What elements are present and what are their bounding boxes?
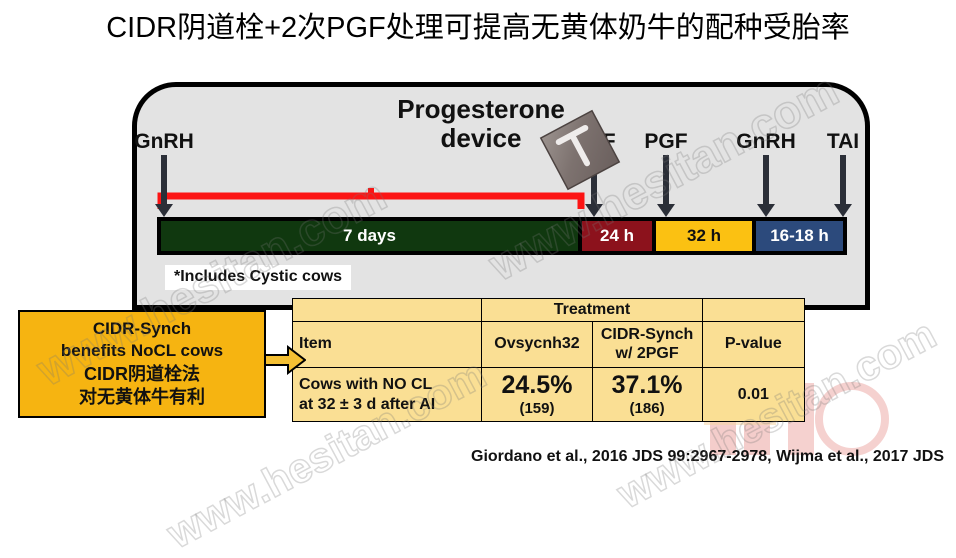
event-label: TAI <box>827 131 859 153</box>
cell-ovsycnh32: 24.5% (159) <box>482 368 592 422</box>
table-header-cidr-synch: CIDR-Synch w/ 2PGF <box>592 322 702 368</box>
cell-p-value: 0.01 <box>702 368 804 422</box>
row-label-line2: at 32 ± 3 d after AI <box>299 396 435 413</box>
table-header-row: Item Ovsycnh32 CIDR-Synch w/ 2PGF P-valu… <box>293 322 805 368</box>
protocol-diagram-panel: Progesterone device GnRH PGF P <box>132 82 870 310</box>
segment-label: 16-18 h <box>770 226 829 246</box>
callout-line: CIDR-Synch <box>93 318 191 340</box>
table-header-blank <box>293 299 482 322</box>
cystic-cows-note: *Includes Cystic cows <box>165 265 351 290</box>
progesterone-period-bracket <box>157 187 585 211</box>
callout-line: CIDR阴道栓法 <box>84 363 200 387</box>
timeline-segment-16-18h: 16-18 h <box>756 221 843 251</box>
table-header-blank <box>702 299 804 322</box>
table-group-header-treatment: Treatment <box>482 299 702 322</box>
header-cidr-line1: CIDR-Synch <box>601 326 693 343</box>
cell-sample-size: (159) <box>488 401 585 418</box>
timeline-segment-24h: 24 h <box>582 221 652 251</box>
protocol-timeline: 7 days 24 h 32 h 16-18 h <box>157 217 847 255</box>
callout-line: 对无黄体牛有利 <box>79 386 205 410</box>
callout-to-table-arrow <box>264 345 306 375</box>
row-label-cell: Cows with NO CL at 32 ± 3 d after AI <box>293 368 482 422</box>
cell-value: 24.5% <box>488 372 585 400</box>
event-label: PGF <box>644 131 687 153</box>
segment-label: 32 h <box>687 226 721 246</box>
callout-box: CIDR-Synch benefits NoCL cows CIDR阴道栓法 对… <box>18 310 266 418</box>
table-header-item: Item <box>293 322 482 368</box>
table-header-p-value: P-value <box>702 322 804 368</box>
table-group-header-row: Treatment <box>293 299 805 322</box>
event-tai: TAI <box>842 155 844 217</box>
event-gnrh-2: GnRH <box>765 155 767 217</box>
cell-cidr-synch: 37.1% (186) <box>592 368 702 422</box>
event-label: GnRH <box>736 131 796 153</box>
callout-line: benefits NoCL cows <box>61 340 223 362</box>
timeline-segment-7days: 7 days <box>161 221 578 251</box>
table-row: Cows with NO CL at 32 ± 3 d after AI 24.… <box>293 368 805 422</box>
event-pgf-2: PGF <box>665 155 667 217</box>
progesterone-label-line2: device <box>441 123 522 153</box>
event-label: GnRH <box>134 131 194 153</box>
cell-sample-size: (186) <box>599 401 696 418</box>
segment-label: 24 h <box>600 226 634 246</box>
header-cidr-line2: w/ 2PGF <box>616 345 679 362</box>
table-header-ovsycnh32: Ovsycnh32 <box>482 322 592 368</box>
results-table-wrapper: Treatment Item Ovsycnh32 CIDR-Synch w/ 2… <box>292 298 805 422</box>
citation-footer: Giordano et al., 2016 JDS 99:2967-2978, … <box>0 448 950 466</box>
timeline-segment-32h: 32 h <box>656 221 752 251</box>
page-title: CIDR阴道栓+2次PGF处理可提高无黄体奶牛的配种受胎率 <box>0 4 956 46</box>
event-gnrh-1: GnRH <box>163 155 165 217</box>
segment-label: 7 days <box>343 226 396 246</box>
row-label-line1: Cows with NO CL <box>299 376 432 393</box>
cell-value: 37.1% <box>599 372 696 400</box>
progesterone-label-line1: Progesterone <box>397 94 565 124</box>
results-table: Treatment Item Ovsycnh32 CIDR-Synch w/ 2… <box>292 298 805 422</box>
